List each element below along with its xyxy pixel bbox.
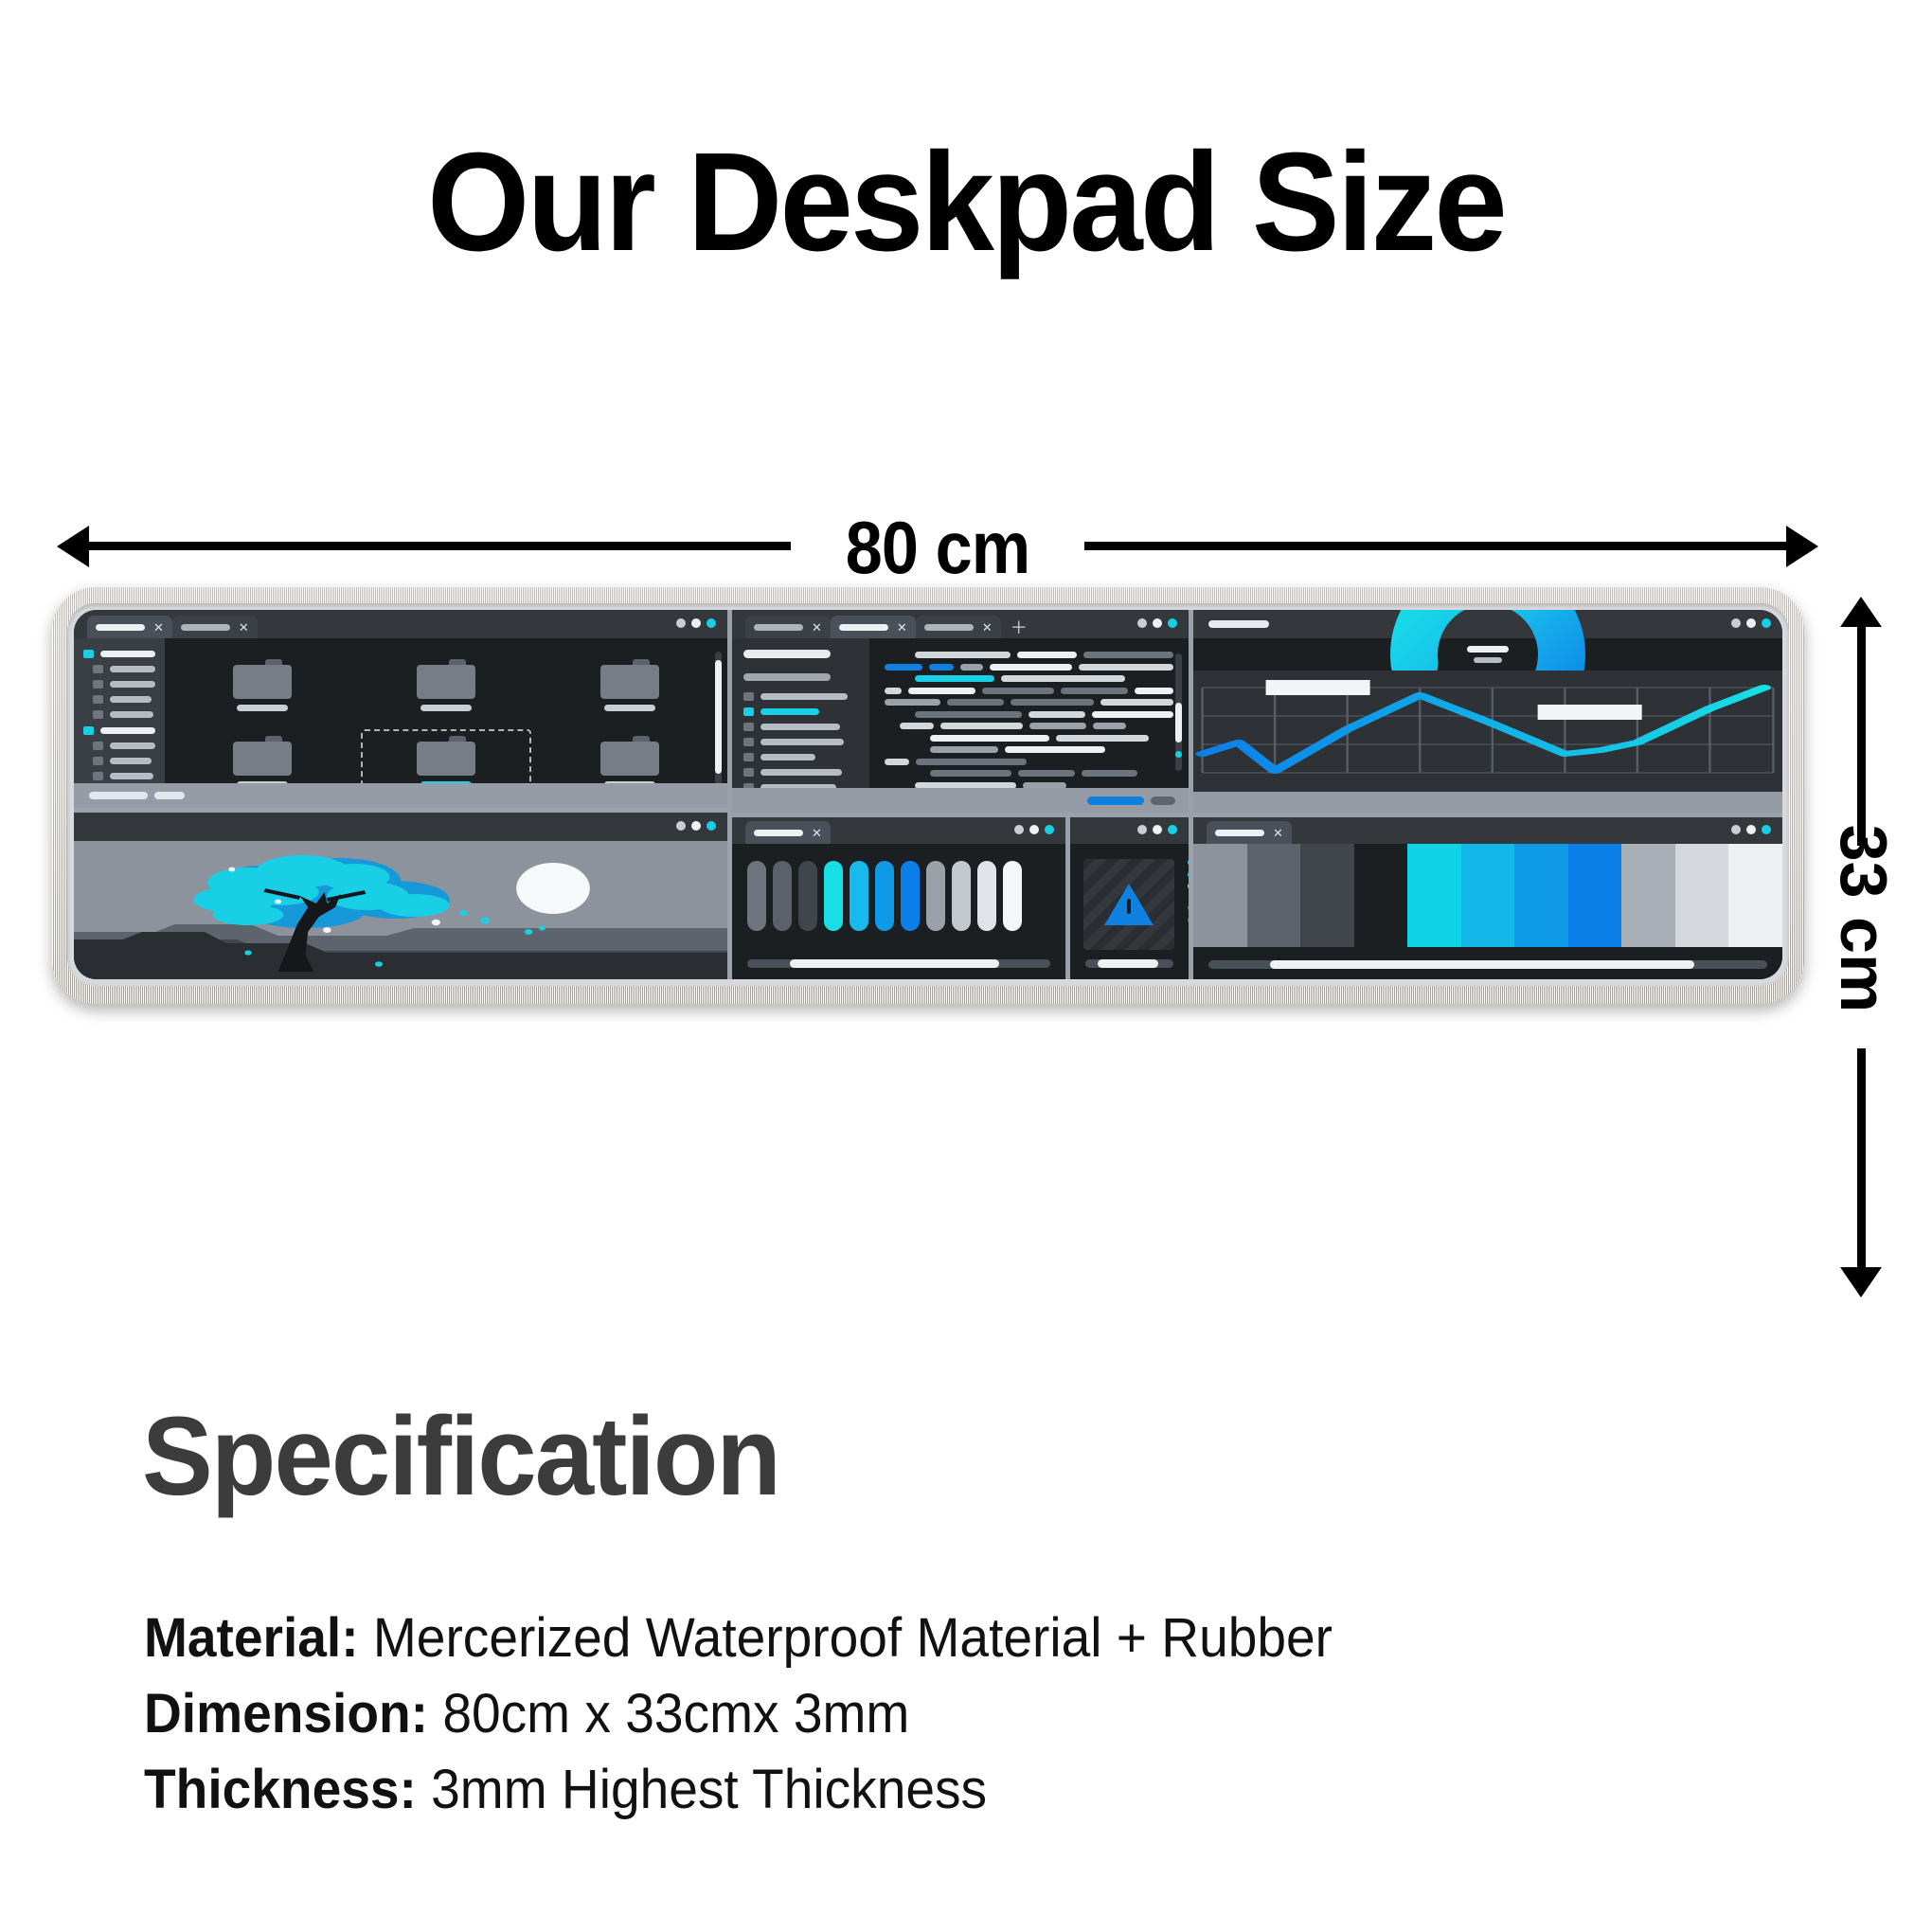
code-token [885, 759, 909, 765]
folder-label [604, 705, 655, 711]
color-swatch[interactable] [875, 861, 894, 931]
window-controls[interactable] [1731, 618, 1771, 628]
maximize-dot-icon[interactable] [1153, 618, 1162, 628]
folder-icon [233, 736, 292, 776]
tree-label [760, 724, 840, 730]
arrow-down-icon [1840, 1267, 1882, 1297]
tree-label [110, 711, 153, 718]
height-dimension: 33 cm [1828, 597, 1894, 1297]
folder-icon [233, 659, 292, 699]
log-body [1070, 844, 1189, 979]
sidebar-subheading [743, 673, 831, 681]
close-dot-icon[interactable] [1168, 825, 1177, 834]
spectrum-band [1621, 844, 1675, 947]
folder-label [420, 705, 472, 711]
bonsai-artwork [74, 841, 727, 979]
wallpaper-titlebar [74, 813, 727, 841]
tree-item[interactable] [743, 707, 860, 716]
status-chip [154, 792, 185, 799]
specification-list: Material: Mercerized Waterproof Material… [144, 1601, 1849, 1828]
code-token [1011, 699, 1094, 706]
spectrum-titlebar: ✕ [1193, 817, 1782, 844]
status-progress [1087, 796, 1144, 805]
tree-label [760, 693, 848, 700]
tree-label [760, 769, 842, 776]
code-token [900, 723, 934, 729]
minimize-dot-icon[interactable] [1137, 825, 1147, 834]
tab-2[interactable]: ✕ [831, 616, 916, 638]
donut-caption [1474, 657, 1502, 663]
tree-label [760, 754, 815, 760]
code-token [1092, 711, 1173, 718]
spectrum-band [1193, 844, 1247, 947]
folder-item[interactable] [546, 653, 714, 717]
close-dot-icon[interactable] [1762, 618, 1771, 628]
tab-label [1215, 830, 1264, 836]
code-token [885, 688, 902, 694]
folder-open-icon [83, 650, 94, 658]
specification-row: Material: Mercerized Waterproof Material… [144, 1601, 1763, 1676]
specification-heading: Specification [142, 1392, 779, 1521]
code-token [1056, 735, 1149, 742]
tab-label [96, 624, 145, 631]
hazard-block [1083, 859, 1174, 950]
page-title: Our Deskpad Size [58, 133, 1874, 273]
folder-icon [93, 710, 103, 719]
color-swatch[interactable] [773, 861, 792, 931]
folder-icon [93, 742, 103, 750]
dimension-line-top [1857, 623, 1866, 846]
panel-wallpaper-bonsai [74, 813, 727, 979]
tree-label [100, 651, 155, 657]
bottom-left-row: ✕ [732, 817, 1189, 979]
tree-label [760, 708, 819, 715]
editor-scrollbar[interactable] [1175, 653, 1182, 771]
code-line [885, 652, 1173, 658]
donut-center-label [1467, 646, 1509, 663]
color-swatch[interactable] [1003, 861, 1022, 931]
tab-label [754, 624, 803, 631]
code-line [885, 735, 1173, 742]
code-token [1135, 688, 1173, 694]
maximize-dot-icon[interactable] [1746, 618, 1756, 628]
tree-item[interactable] [83, 757, 157, 765]
code-token [1061, 688, 1128, 694]
code-token [915, 711, 1022, 718]
log-line [1188, 917, 1189, 923]
deskpad-product: ✕ ✕ ✕ ＋ [52, 587, 1804, 1004]
folder-icon [417, 736, 475, 776]
folder-icon [93, 665, 103, 673]
dashboard-statusbar [1193, 792, 1782, 813]
close-icon[interactable]: ✕ [812, 621, 822, 634]
folder-icon [743, 753, 754, 761]
close-icon[interactable]: ✕ [1273, 827, 1283, 839]
log-line [1188, 871, 1189, 878]
log-token [1188, 859, 1189, 866]
spectrum-scrollbar[interactable] [1208, 960, 1767, 969]
folder-icon [743, 692, 754, 701]
log-line [1188, 894, 1189, 900]
code-token [1093, 723, 1126, 729]
log-line [1188, 859, 1189, 866]
code-token [1017, 652, 1077, 658]
tab-1[interactable]: ✕ [745, 616, 831, 638]
folder-icon [93, 757, 103, 765]
log-lines [1188, 859, 1189, 964]
log-line [1188, 883, 1189, 888]
log-progress[interactable] [1085, 959, 1173, 968]
minimize-dot-icon[interactable] [676, 821, 686, 831]
color-swatch[interactable] [850, 861, 868, 931]
code-token [1100, 699, 1173, 706]
specification-value: Mercerized Waterproof Material + Rubber [359, 1607, 1333, 1669]
dimension-line-bottom [1857, 1048, 1866, 1271]
specification-value: 3mm Highest Thickness [417, 1759, 987, 1820]
code-token [930, 735, 1049, 742]
tree-label [110, 742, 155, 749]
specification-row: Thickness: 3mm Highest Thickness [144, 1752, 1763, 1828]
spectrum-band [1354, 844, 1408, 947]
folder-icon [600, 736, 659, 776]
tab-1[interactable]: ✕ [87, 616, 172, 638]
specification-row: Dimension: 80cm x 33cmx 3mm [144, 1676, 1763, 1752]
spectrum-band [1300, 844, 1354, 947]
code-line [885, 699, 1173, 706]
spectrum-band [1247, 844, 1301, 947]
tree-item[interactable] [743, 738, 860, 746]
tree-item[interactable] [83, 665, 157, 673]
file-manager-scrollbar[interactable] [715, 652, 722, 795]
code-line [885, 675, 1173, 682]
swatch-row[interactable] [747, 861, 1050, 931]
spectrum-band [1514, 844, 1568, 947]
window-controls[interactable] [1137, 825, 1177, 834]
folder-icon [743, 738, 754, 746]
code-editor-body: ✕ [732, 638, 1189, 813]
maximize-dot-icon[interactable] [691, 618, 701, 628]
folder-icon [600, 659, 659, 699]
width-dimension: 80 cm [57, 516, 1818, 573]
code-token [916, 759, 1027, 765]
panel-dashboard [1193, 610, 1782, 813]
file-manager-statusbar [74, 783, 727, 808]
maximize-dot-icon[interactable] [1029, 825, 1039, 834]
folder-icon [743, 723, 754, 731]
color-swatch[interactable] [901, 861, 920, 931]
code-token [885, 699, 940, 706]
tree-item[interactable] [83, 726, 157, 735]
minimize-dot-icon[interactable] [1137, 618, 1147, 628]
close-icon[interactable]: ✕ [153, 621, 164, 634]
code-token [947, 699, 1004, 706]
window-controls[interactable] [1731, 825, 1771, 834]
maximize-dot-icon[interactable] [691, 821, 701, 831]
close-dot-icon[interactable] [1045, 825, 1054, 834]
tree-label [100, 727, 155, 734]
sidebar-heading [743, 650, 831, 658]
middle-column: ✕ ✕ [74, 610, 727, 979]
code-token [915, 652, 1011, 658]
code-token [930, 770, 1011, 777]
folder-label [237, 705, 288, 711]
panel-file-manager: ✕ ✕ [74, 610, 727, 808]
arrow-right-icon [1786, 526, 1818, 567]
tree-item[interactable] [83, 710, 157, 719]
folder-open-icon [83, 726, 94, 735]
close-icon[interactable]: ✕ [982, 621, 993, 634]
close-dot-icon[interactable] [707, 821, 716, 831]
palette-body [732, 844, 1065, 979]
tab-1[interactable]: ✕ [1207, 821, 1292, 844]
palette-titlebar: ✕ [732, 817, 1065, 844]
window-controls[interactable] [1137, 618, 1177, 628]
status-chip [89, 792, 148, 799]
close-dot-icon[interactable] [707, 618, 716, 628]
tree-label [110, 773, 153, 779]
specification-label: Thickness: [144, 1759, 417, 1820]
color-swatch[interactable] [926, 861, 945, 931]
specification-label: Dimension: [144, 1683, 428, 1744]
code-area[interactable] [869, 638, 1189, 813]
close-dot-icon[interactable] [1168, 618, 1177, 628]
color-swatch[interactable] [747, 861, 766, 931]
code-token [960, 664, 983, 671]
file-manager-tabs: ✕ ✕ [74, 610, 258, 638]
minimize-dot-icon[interactable] [1731, 618, 1741, 628]
spectrum-band [1728, 844, 1782, 947]
code-token [1018, 770, 1075, 777]
file-tree-sidebar[interactable]: ✕ [732, 638, 869, 813]
tree-label [110, 758, 152, 764]
code-line [885, 723, 1173, 729]
code-token [915, 675, 994, 682]
code-token [1082, 770, 1137, 777]
dashboard-body [1193, 638, 1782, 813]
code-token [1005, 746, 1105, 753]
window-controls[interactable] [1014, 825, 1054, 834]
tree-label [760, 739, 844, 745]
specification-label: Material: [144, 1607, 359, 1669]
spectrum-body [1193, 844, 1782, 979]
log-token [1188, 871, 1189, 878]
code-token [885, 664, 922, 671]
palette-tabs: ✕ [732, 817, 831, 844]
panel-color-palette: ✕ [732, 817, 1065, 979]
editor-statusbar [732, 788, 1189, 813]
spectrum-tabs: ✕ [1193, 817, 1292, 844]
log-token [1188, 917, 1189, 923]
panel-code-editor: ✕ ✕ ✕ ＋ [732, 610, 1189, 813]
spectrum-band [1675, 844, 1729, 947]
warning-triangle-icon [1104, 884, 1154, 925]
folder-item[interactable] [178, 653, 347, 717]
code-editor-titlebar: ✕ ✕ ✕ ＋ [732, 610, 1189, 638]
folder-item[interactable] [362, 653, 530, 717]
tab-2[interactable]: ✕ [172, 616, 258, 638]
tree-item[interactable] [743, 768, 860, 777]
code-token [1029, 711, 1085, 718]
code-line [885, 746, 1173, 753]
tree-item[interactable] [83, 742, 157, 750]
new-tab-icon[interactable]: ＋ [1001, 619, 1037, 638]
spectrum-band [1568, 844, 1622, 947]
code-line [885, 759, 1173, 765]
spectrum-band [1407, 844, 1461, 947]
spectrum-band [1461, 844, 1515, 947]
code-token [990, 664, 1072, 671]
close-icon[interactable]: ✕ [897, 621, 907, 634]
tab-label [754, 830, 803, 836]
maximize-dot-icon[interactable] [1746, 825, 1756, 834]
status-chip [1151, 796, 1175, 805]
tree-item[interactable] [743, 723, 860, 731]
deskpad-surface: ✕ ✕ ✕ ＋ [67, 603, 1789, 986]
panel-log-console [1070, 817, 1189, 979]
close-icon[interactable]: ✕ [239, 621, 249, 634]
tab-label [839, 624, 888, 631]
code-token [940, 723, 1023, 729]
code-token [1079, 664, 1173, 671]
maximize-dot-icon[interactable] [1153, 825, 1162, 834]
code-token [908, 688, 975, 694]
log-token [1188, 904, 1189, 911]
tab-label [924, 624, 974, 631]
folder-icon [743, 768, 754, 777]
color-swatch[interactable] [977, 861, 996, 931]
arrow-left-icon [57, 526, 89, 567]
color-swatch[interactable] [824, 861, 843, 931]
folder-icon [417, 659, 475, 699]
code-token [1083, 652, 1173, 658]
code-token [982, 688, 1054, 694]
close-dot-icon[interactable] [1762, 825, 1771, 834]
tab-3[interactable]: ✕ [916, 616, 1001, 638]
tree-item[interactable] [83, 772, 157, 780]
file-manager-titlebar: ✕ ✕ [74, 610, 727, 638]
code-line [885, 711, 1173, 718]
palette-progress[interactable] [747, 959, 1050, 968]
code-token [930, 746, 998, 753]
code-line [885, 688, 1173, 694]
code-token [929, 664, 954, 671]
minimize-dot-icon[interactable] [1014, 825, 1024, 834]
window-controls[interactable] [676, 821, 716, 831]
tree-label [110, 666, 155, 672]
deskpad-artwork: ✕ ✕ ✕ ＋ [74, 610, 1782, 979]
tab-label [181, 624, 230, 631]
close-icon[interactable]: ✕ [812, 827, 822, 839]
code-editor-tabs: ✕ ✕ ✕ ＋ [732, 610, 1037, 638]
tree-item[interactable] [83, 680, 157, 689]
color-swatch[interactable] [798, 861, 817, 931]
color-swatch[interactable] [952, 861, 971, 931]
folder-icon [93, 680, 103, 689]
tree-item[interactable] [743, 692, 860, 701]
log-line [1188, 904, 1189, 911]
tree-label [110, 681, 155, 688]
tree-label [110, 696, 152, 703]
infographic-page: Our Deskpad Size 80 cm 33 cm ✕ ✕ ✕ [0, 0, 1932, 1932]
panel-spectrum: ✕ [1193, 817, 1782, 979]
folder-icon [743, 707, 754, 716]
code-line [885, 664, 1173, 671]
tree-item[interactable] [743, 753, 860, 761]
code-token [1029, 723, 1086, 729]
line-chart [1193, 671, 1782, 792]
spectrum-bands [1193, 844, 1782, 947]
minimize-dot-icon[interactable] [676, 618, 686, 628]
tab-1[interactable]: ✕ [745, 821, 831, 844]
height-label: 33 cm [1826, 814, 1902, 1023]
donut-chart [1193, 638, 1782, 671]
log-titlebar [1070, 817, 1189, 844]
log-token [1188, 883, 1189, 889]
specification-value: 80cm x 33cmx 3mm [428, 1683, 909, 1744]
window-title [1208, 620, 1269, 628]
donut-value [1467, 646, 1509, 653]
tree-item[interactable] [83, 695, 157, 704]
minimize-dot-icon[interactable] [1731, 825, 1741, 834]
code-line [885, 770, 1173, 777]
tree-item[interactable] [83, 650, 157, 658]
folder-icon [93, 772, 103, 780]
folder-icon [93, 695, 103, 704]
window-controls[interactable] [676, 618, 716, 628]
code-token [1001, 675, 1125, 682]
dimension-line-right [1084, 542, 1790, 550]
